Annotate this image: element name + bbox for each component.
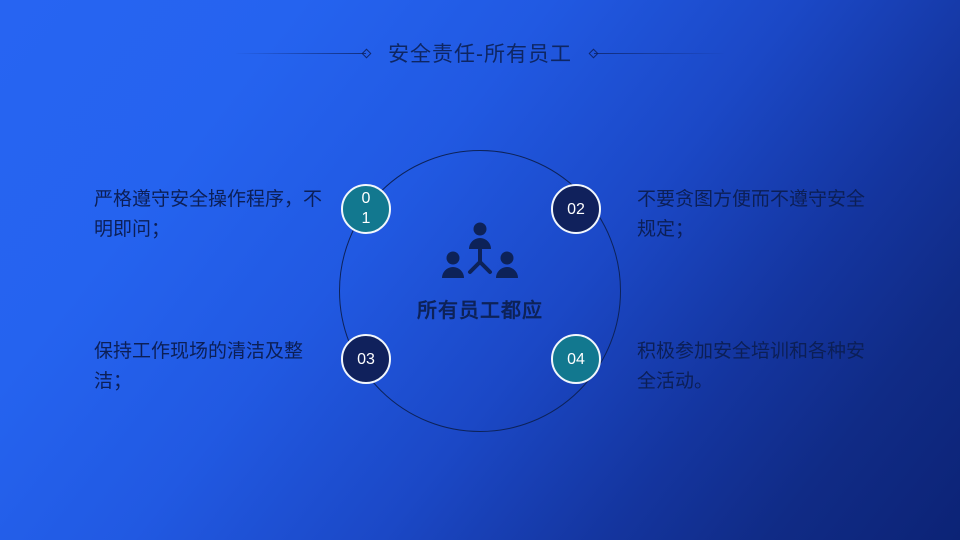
diagram-node-03-number: 03: [357, 350, 375, 369]
diagram-node-03[interactable]: 03: [341, 334, 391, 384]
diagram-node-04-number: 04: [567, 350, 585, 369]
title-rule-left-line: [236, 53, 366, 54]
diagram-center: 所有员工都应: [339, 222, 621, 323]
bullet-text-02: 不要贪图方便而不遵守安全规定；: [637, 185, 869, 245]
diagram-node-01[interactable]: 01: [341, 184, 391, 234]
slide-title-band: 安全责任-所有员工: [0, 34, 960, 72]
page-title: 安全责任-所有员工: [366, 38, 594, 68]
slide-canvas: 安全责任-所有员工 所有员工都应 0: [0, 0, 960, 540]
bullet-text-04: 积极参加安全培训和各种安全活动。: [637, 337, 869, 397]
diagram-node-02[interactable]: 02: [551, 184, 601, 234]
title-rule-left: [236, 53, 366, 54]
diagram-center-label: 所有员工都应: [339, 294, 621, 323]
bullet-text-01: 严格遵守安全操作程序，不明即问；: [94, 185, 326, 245]
team-people-icon: [442, 222, 518, 284]
title-rule-right: [594, 53, 724, 54]
diagram-node-02-number: 02: [567, 200, 585, 219]
diagram-node-01-number: 01: [358, 189, 374, 229]
diagram-node-04[interactable]: 04: [551, 334, 601, 384]
title-rule-right-line: [594, 53, 724, 54]
circular-diagram: 所有员工都应 01 02 03 04: [339, 150, 621, 432]
bullet-text-03: 保持工作现场的清洁及整洁；: [94, 337, 326, 397]
